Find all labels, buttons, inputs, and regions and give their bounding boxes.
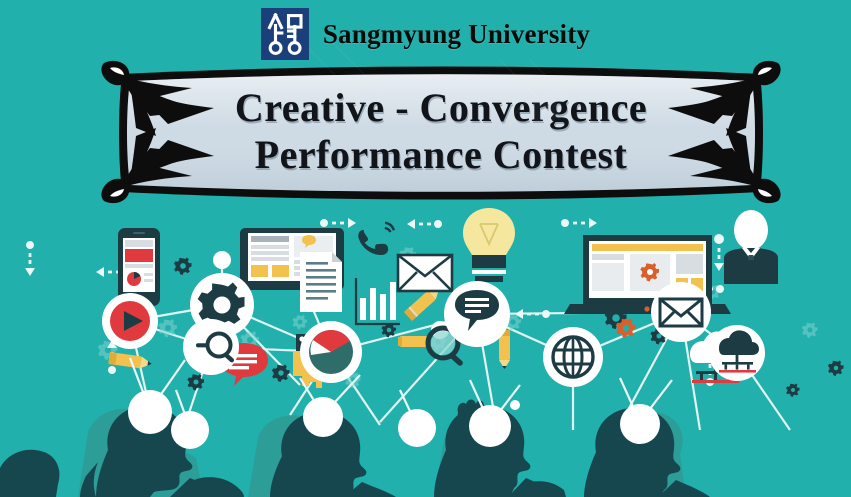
pie-chart-node [300, 321, 362, 383]
speech-bubble-node [444, 281, 510, 347]
cloud-upload-node [709, 325, 765, 381]
search-node [183, 319, 239, 375]
document-icon [300, 252, 342, 312]
envelope-flat-icon [398, 255, 452, 291]
title-banner: Creative - Convergence Performance Conte… [96, 58, 786, 206]
highlighter-icon [398, 336, 428, 347]
university-name: Sangmyung University [323, 19, 590, 50]
creative-network-infographic [0, 200, 851, 497]
globe-node [543, 327, 603, 387]
envelope-node [651, 282, 711, 342]
play-button-node [102, 293, 158, 349]
header: Sangmyung University [0, 6, 851, 62]
poster-root: Sangmyung University [0, 0, 851, 497]
sangmyung-university-logo [261, 8, 309, 60]
